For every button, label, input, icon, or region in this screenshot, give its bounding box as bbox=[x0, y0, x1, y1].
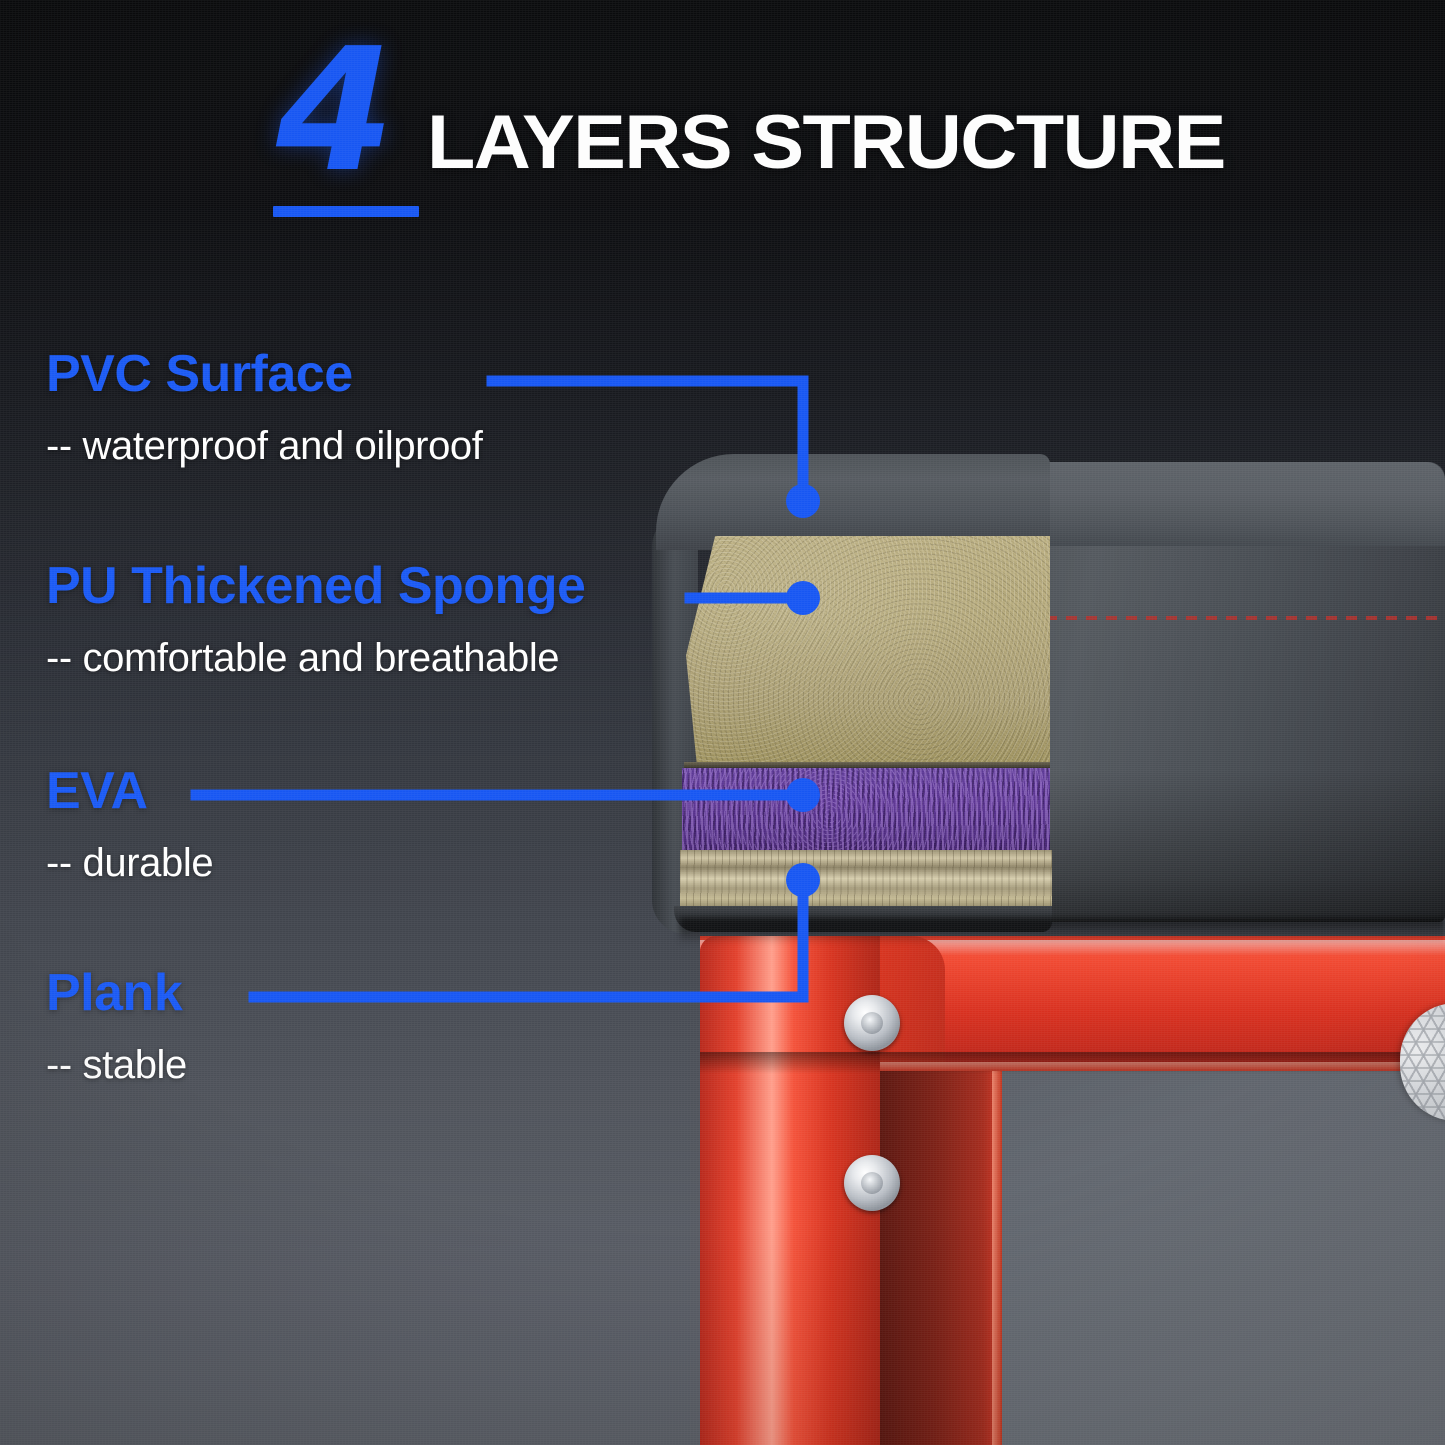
callout-pvc-surface-desc: -- waterproof and oilproof bbox=[46, 426, 483, 466]
callout-eva: EVA -- durable bbox=[46, 765, 213, 883]
leader-pvc bbox=[492, 381, 820, 518]
leader-plank bbox=[254, 863, 820, 997]
callout-pvc-surface-title: PVC Surface bbox=[46, 348, 483, 400]
callout-plank-desc: -- stable bbox=[46, 1045, 187, 1085]
callout-plank: Plank -- stable bbox=[46, 967, 187, 1085]
infographic-canvas: 4 LAYERS STRUCTURE PVC Surface -- waterp… bbox=[0, 0, 1445, 1445]
callout-pvc-surface: PVC Surface -- waterproof and oilproof bbox=[46, 348, 483, 466]
leader-pu-sponge bbox=[690, 581, 820, 615]
callout-eva-desc: -- durable bbox=[46, 843, 213, 883]
callout-leader-lines bbox=[0, 0, 1445, 1445]
leader-eva bbox=[196, 778, 820, 812]
callout-pu-sponge: PU Thickened Sponge -- comfortable and b… bbox=[46, 560, 585, 678]
callout-pu-sponge-title: PU Thickened Sponge bbox=[46, 560, 585, 612]
callout-pu-sponge-desc: -- comfortable and breathable bbox=[46, 638, 585, 678]
callout-plank-title: Plank bbox=[46, 967, 187, 1019]
callout-eva-title: EVA bbox=[46, 765, 213, 817]
